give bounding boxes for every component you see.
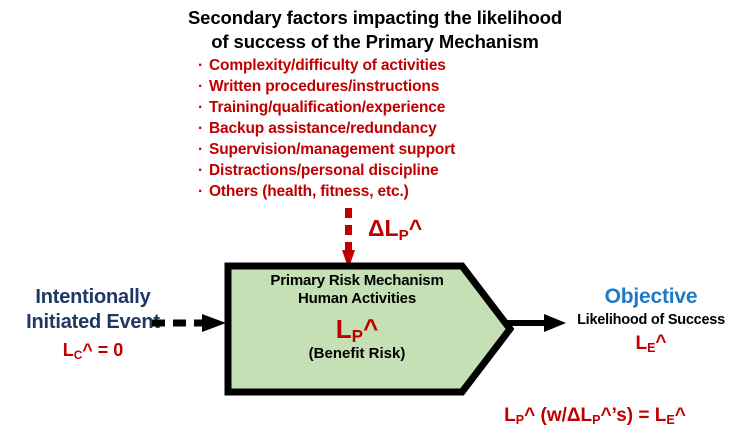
list-item-label: Training/qualification/experience [209,99,445,116]
output-formula: LE^ [562,333,740,355]
list-item: ·Backup assistance/redundancy [198,118,455,139]
list-item: ·Complexity/difficulty of activities [198,55,455,76]
delta-lp-caret: ^ [409,215,422,241]
box-symbol-prefix: L [336,314,352,344]
process-box-text: Primary Risk Mechanism Human Activities … [232,272,482,364]
delta-lp-prefix: ΔL [368,215,399,241]
objective-label: Objective Likelihood of Success LE^ [562,285,740,355]
bullet-icon: · [198,160,209,181]
title-line-1: Secondary factors impacting the likeliho… [80,6,670,30]
list-item: ·Training/qualification/experience [198,97,455,118]
input-formula-prefix: L [63,340,74,360]
bullet-icon: · [198,139,209,160]
input-formula: LC^ = 0 [2,340,184,361]
right-solid-arrow-icon [505,314,567,332]
box-line-1: Primary Risk Mechanism [232,272,482,290]
output-title: Objective [562,285,740,310]
bullet-icon: · [198,97,209,118]
bullet-icon: · [198,76,209,97]
list-item-label: Written procedures/instructions [209,78,439,95]
summary-sub-2: P [592,413,600,427]
list-item-label: Distractions/personal discipline [209,162,439,179]
box-symbol-caret: ^ [363,313,378,343]
output-formula-caret: ^ [655,332,666,353]
bullet-icon: · [198,181,209,202]
box-line-2: Human Activities [232,290,482,308]
title-line-2: of success of the Primary Mechanism [80,30,670,54]
list-item-label: Others (health, fitness, etc.) [209,183,409,200]
input-formula-subscript: C [74,348,83,362]
list-item: ·Supervision/management support [198,139,455,160]
summary-sub-3: E [666,413,674,427]
bullet-icon: · [198,55,209,76]
page-title: Secondary factors impacting the likeliho… [80,6,670,53]
summary-part-3: ^’s) = L [601,405,667,426]
summary-part-4: ^ [675,405,686,426]
list-item: ·Others (health, fitness, etc.) [198,181,455,202]
input-title-line-1: Intentionally [2,285,184,310]
diagram-canvas: Secondary factors impacting the likeliho… [0,0,743,439]
delta-lp-subscript: P [399,227,409,244]
list-item-label: Complexity/difficulty of activities [209,57,446,74]
bullet-icon: · [198,118,209,139]
secondary-factors-list: ·Complexity/difficulty of activities ·Wr… [198,55,455,202]
output-subtitle: Likelihood of Success [562,312,740,328]
list-item-label: Backup assistance/redundancy [209,120,437,137]
summary-equation: LP^ (w/ΔLP^’s) = LE^ [455,405,735,427]
box-line-3: (Benefit Risk) [232,345,482,363]
delta-lp-label: ΔLP^ [368,215,422,242]
box-symbol-lp: LP^ [232,315,482,345]
right-dashed-arrow-icon [152,314,228,332]
box-symbol-subscript: P [352,326,363,346]
input-formula-suffix: ^ = 0 [82,340,123,360]
list-item-label: Supervision/management support [209,141,455,158]
summary-part-2: ^ (w/ΔL [524,405,592,426]
down-dashed-arrow-icon [342,208,355,270]
summary-part-1: L [504,405,516,426]
summary-sub-1: P [516,413,524,427]
list-item: ·Written procedures/instructions [198,76,455,97]
output-formula-prefix: L [635,333,647,354]
list-item: ·Distractions/personal discipline [198,160,455,181]
